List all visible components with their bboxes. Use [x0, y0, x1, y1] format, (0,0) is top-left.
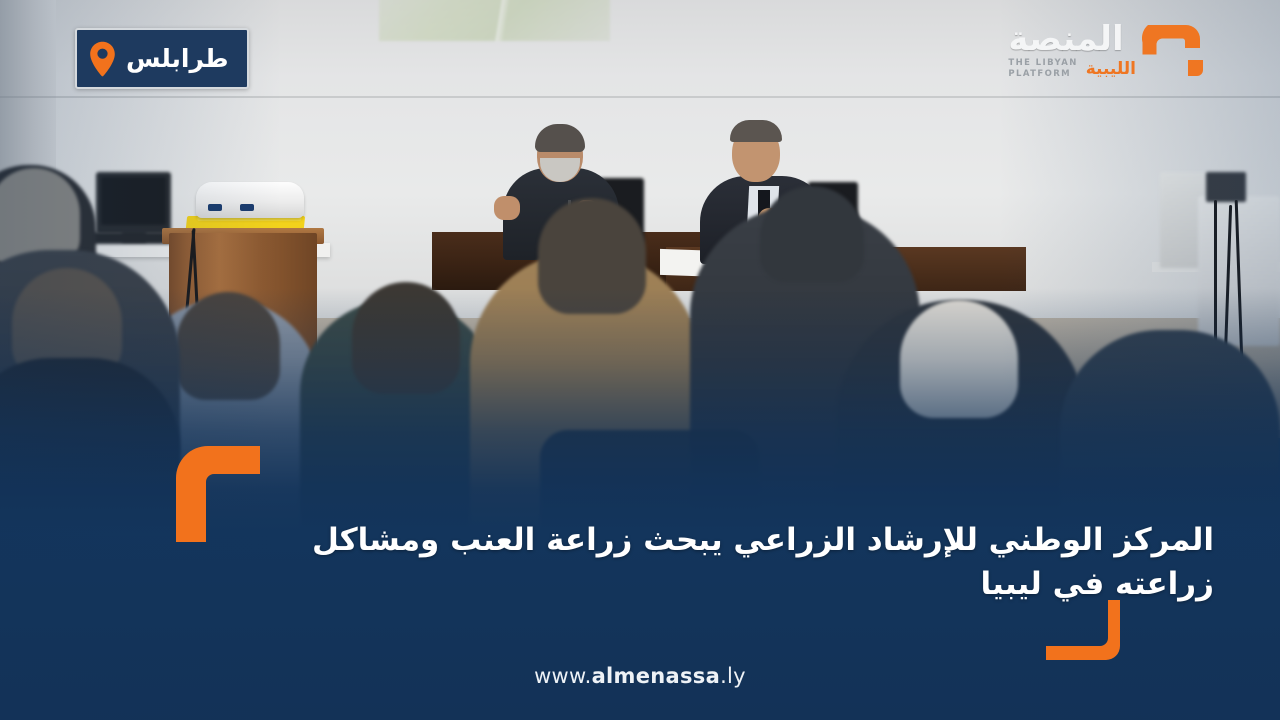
logo-main-word: المنصة: [1008, 22, 1123, 56]
url-tld: .ly: [720, 664, 746, 688]
site-url[interactable]: www.almenassa.ly: [0, 664, 1280, 688]
url-name: almenassa: [592, 664, 721, 688]
location-badge[interactable]: طرابلس: [75, 28, 249, 89]
orange-bracket-mark-icon: [1142, 20, 1208, 82]
logo-text: المنصة الليبية THE LIBYAN PLATFORM: [1008, 22, 1136, 79]
logo-sub-english-line1: THE LIBYAN: [1008, 58, 1077, 68]
logo-sub-english: THE LIBYAN PLATFORM: [1008, 58, 1077, 79]
news-card: طرابلس المنصة الليبية THE LIBYAN PLATFOR…: [0, 0, 1280, 720]
map-pin-icon: [89, 41, 116, 77]
site-logo[interactable]: المنصة الليبية THE LIBYAN PLATFORM: [1008, 20, 1208, 82]
url-prefix: www.: [534, 664, 591, 688]
bracket-corner-top-left-icon: [176, 444, 260, 542]
headline-text: المركز الوطني للإرشاد الزراعي يبحث زراعة…: [284, 518, 1214, 606]
logo-sub-english-line2: PLATFORM: [1008, 69, 1071, 79]
logo-sub-arabic: الليبية: [1086, 61, 1136, 78]
location-label: طرابلس: [126, 46, 229, 71]
bracket-corner-bottom-right-icon: [1046, 600, 1120, 662]
